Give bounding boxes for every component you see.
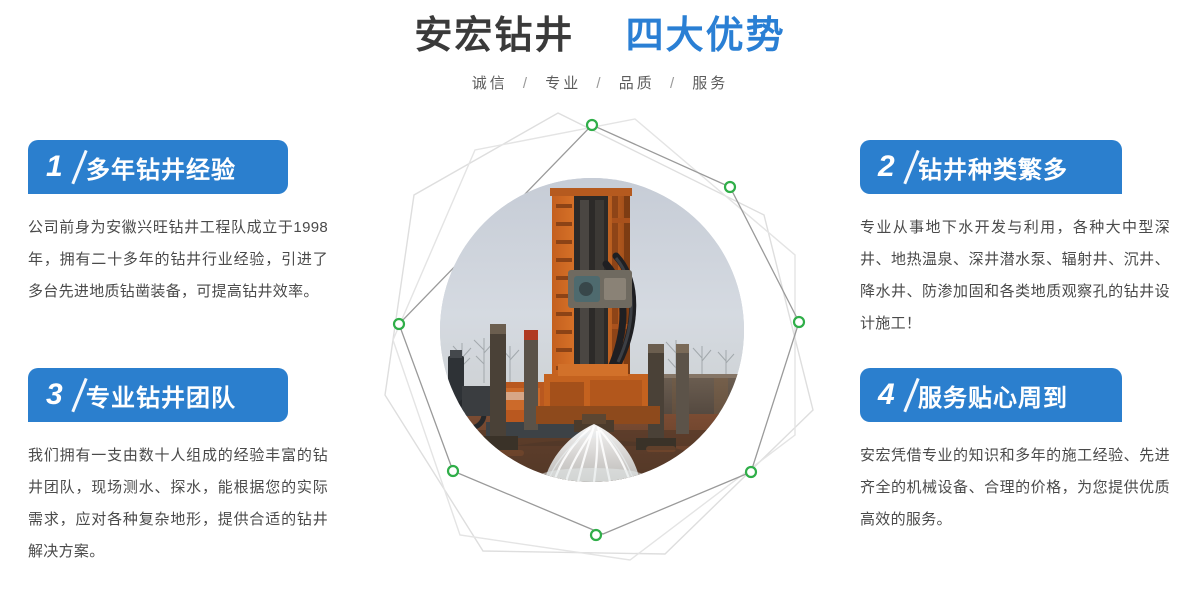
number-slash-icon — [903, 378, 919, 412]
feature-3-text: 我们拥有一支由数十人组成的经验丰富的钻井团队，现场测水、探水，能根据您的实际需求… — [28, 440, 328, 568]
page-subtitle: 诚信 / 专业 / 品质 / 服务 — [0, 72, 1200, 93]
feature-2-number-text: 2 — [878, 150, 895, 183]
vertex-marker-icon — [591, 530, 601, 540]
page-title: 安宏钻井 四大优势 — [0, 14, 1200, 60]
feature-1-number-text: 1 — [46, 150, 63, 183]
feature-2-heading: 钻井种类繁多 — [918, 150, 1068, 185]
subtitle-separator-1: / — [596, 75, 603, 92]
jack-cylinder-left — [524, 330, 538, 430]
vertex-marker-icon — [587, 120, 597, 130]
jack-cylinder-right — [676, 344, 689, 434]
page-title-blue: 四大优势 — [626, 15, 786, 57]
drilling-site-photo — [440, 178, 744, 482]
center-graphic — [365, 105, 835, 585]
feature-3-banner[interactable]: 3 专业钻井团队 — [28, 368, 288, 422]
number-slash-icon — [71, 378, 87, 412]
feature-2-number: 2 — [874, 147, 918, 187]
feature-block-3: 3 专业钻井团队 我们拥有一支由数十人组成的经验丰富的钻井团队，现场测水、探水，… — [0, 368, 360, 568]
subtitle-item-3: 服务 — [692, 75, 728, 92]
subtitle-item-0: 诚信 — [472, 75, 508, 92]
subtitle-separator-2: / — [670, 75, 677, 92]
vertex-marker-icon — [794, 317, 804, 327]
feature-4-number: 4 — [874, 375, 918, 415]
page-title-dark: 安宏钻井 — [414, 15, 574, 57]
subtitle-item-2: 品质 — [619, 75, 655, 92]
feature-4-text: 安宏凭借专业的知识和多年的施工经验、先进齐全的机械设备、合理的价格，为您提供优质… — [860, 440, 1170, 536]
feature-1-heading: 多年钻井经验 — [86, 150, 236, 185]
feature-3-number: 3 — [42, 375, 86, 415]
promo-page: 安宏钻井 四大优势 诚信 / 专业 / 品质 / 服务 1 多年钻井经验 公司前… — [0, 0, 1200, 600]
feature-1-text: 公司前身为安徽兴旺钻井工程队成立于1998年，拥有二十多年的钻井行业经验，引进了… — [28, 212, 328, 308]
drilling-rig-illustration — [440, 178, 744, 482]
feature-1-number: 1 — [42, 147, 86, 187]
vertex-marker-icon — [394, 319, 404, 329]
feature-2-text: 专业从事地下水开发与利用，各种大中型深井、地热温泉、深井潜水泵、辐射井、沉井、降… — [860, 212, 1170, 340]
number-slash-icon — [71, 150, 87, 184]
feature-block-2: 2 钻井种类繁多 专业从事地下水开发与利用，各种大中型深井、地热温泉、深井潜水泵… — [840, 140, 1200, 340]
vertex-marker-icon — [746, 467, 756, 477]
feature-3-heading: 专业钻井团队 — [86, 378, 236, 413]
feature-block-4: 4 服务贴心周到 安宏凭借专业的知识和多年的施工经验、先进齐全的机械设备、合理的… — [840, 368, 1200, 536]
feature-4-heading: 服务贴心周到 — [918, 378, 1068, 413]
feature-3-number-text: 3 — [46, 378, 63, 411]
feature-4-banner[interactable]: 4 服务贴心周到 — [860, 368, 1122, 422]
number-slash-icon — [903, 150, 919, 184]
feature-2-banner[interactable]: 2 钻井种类繁多 — [860, 140, 1122, 194]
feature-block-1: 1 多年钻井经验 公司前身为安徽兴旺钻井工程队成立于1998年，拥有二十多年的钻… — [0, 140, 360, 308]
rotary-head — [568, 270, 632, 308]
subtitle-separator-0: / — [523, 75, 530, 92]
feature-1-banner[interactable]: 1 多年钻井经验 — [28, 140, 288, 194]
subtitle-item-1: 专业 — [545, 75, 581, 92]
feature-4-number-text: 4 — [878, 378, 895, 411]
page-header: 安宏钻井 四大优势 诚信 / 专业 / 品质 / 服务 — [0, 0, 1200, 93]
